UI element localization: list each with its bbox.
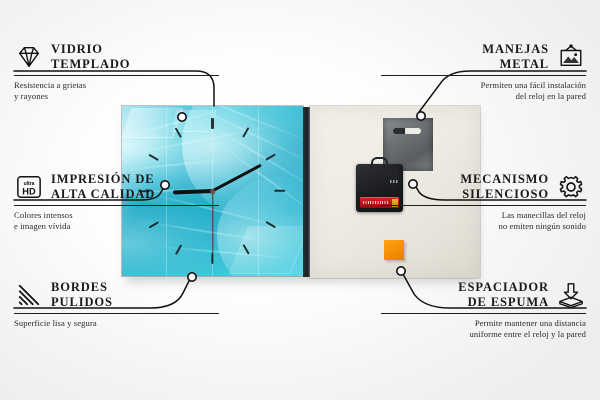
ultra-hd-icon: ultra HD [14, 174, 44, 200]
framed-picture-hanging-icon [556, 44, 586, 70]
feature-subtitle: Las manecillas del relojno emiten ningún… [381, 210, 586, 233]
diamond-icon [14, 44, 44, 70]
divider [14, 75, 219, 76]
feature-manejas-metal: MANEJASMETAL Permiten una fácil instalac… [381, 42, 586, 102]
divider [14, 205, 219, 206]
gear-icon [556, 174, 586, 200]
divider [381, 75, 586, 76]
infographic-stage: VIDRIOTEMPLADO Resistencia a grietasy ra… [0, 0, 600, 400]
clock-side-edge [303, 107, 310, 277]
feature-title: IMPRESIÓN DEALTA CALIDAD [51, 172, 155, 202]
clock-tick [211, 253, 213, 264]
feature-subtitle: Permite mantener una distanciauniforme e… [381, 318, 586, 341]
feature-title: VIDRIOTEMPLADO [51, 42, 130, 72]
feature-subtitle: Resistencia a grietasy rayones [14, 80, 219, 103]
feature-title: ESPACIADORDE ESPUMA [458, 280, 549, 310]
feature-title: BORDESPULIDOS [51, 280, 113, 310]
divider [381, 205, 586, 206]
feature-mecanismo-silencioso: MECANISMOSILENCIOSO Las manecillas del r… [381, 172, 586, 232]
feature-title: MECANISMOSILENCIOSO [460, 172, 549, 202]
feature-subtitle: Permiten una fácil instalacióndel reloj … [381, 80, 586, 103]
hanger-slot [393, 128, 421, 134]
foam-spacer [384, 240, 404, 260]
feature-vidrio-templado: VIDRIOTEMPLADO Resistencia a grietasy ra… [14, 42, 219, 102]
foam-spacer-arrow-icon [556, 282, 586, 308]
polished-edge-icon [14, 282, 44, 308]
feature-espaciador-de-espuma: ESPACIADORDE ESPUMA Permite mantener una… [381, 280, 586, 340]
ultra-hd-icon-large-label: HD [22, 186, 36, 196]
divider [14, 313, 219, 314]
feature-subtitle: Superficie lisa y segura [14, 318, 219, 329]
feature-subtitle: Colores intensose imagen vívida [14, 210, 219, 233]
mechanism-hanging-loop [371, 157, 388, 167]
feature-impresion-alta-calidad: ultra HD IMPRESIÓN DEALTA CALIDAD Colore… [14, 172, 219, 232]
feature-title: MANEJASMETAL [482, 42, 549, 72]
divider [381, 313, 586, 314]
feature-bordes-pulidos: BORDESPULIDOS Superficie lisa y segura [14, 280, 219, 329]
